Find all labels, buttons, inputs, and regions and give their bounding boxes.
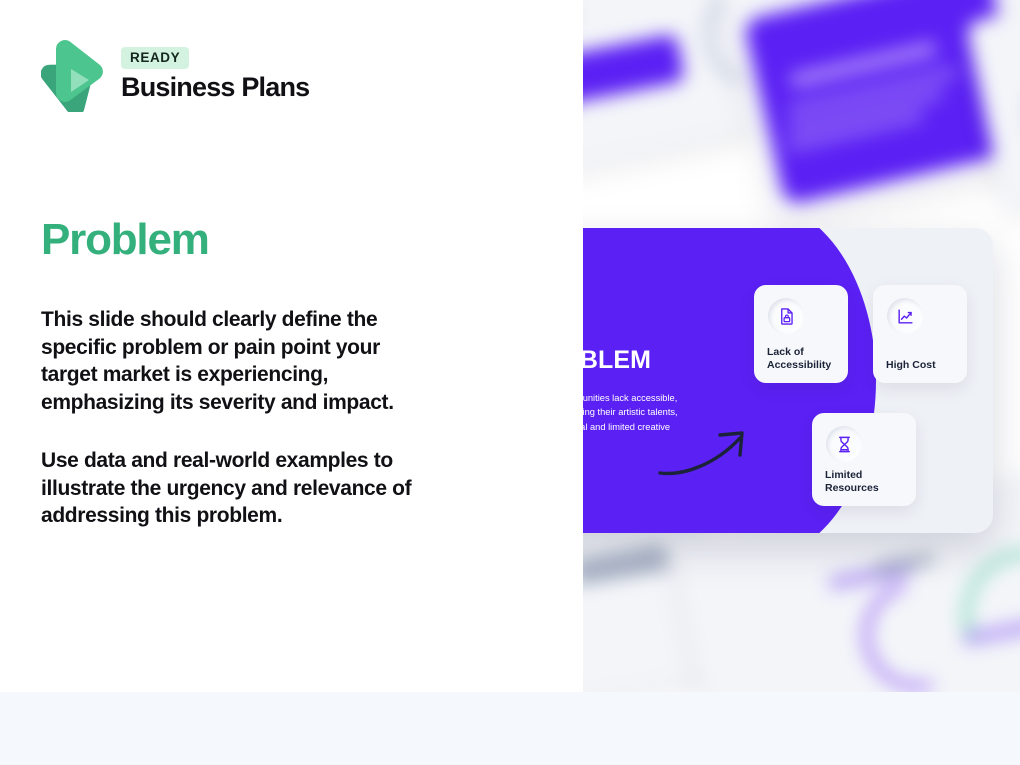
slide-accent-shape bbox=[583, 228, 758, 533]
slide-preview-panel: THE PROBLEM Many individuals and communi… bbox=[583, 0, 1020, 692]
ready-badge: READY bbox=[121, 47, 189, 69]
bottom-strip bbox=[0, 692, 1020, 765]
line-chart-icon bbox=[887, 298, 923, 334]
document-lock-icon bbox=[768, 298, 804, 334]
feature-card-limited-resources[interactable]: Limited Resources bbox=[812, 413, 916, 506]
slide-heading: THE PROBLEM bbox=[583, 346, 651, 375]
paragraph-1: This slide should clearly define the spe… bbox=[41, 306, 425, 417]
paragraph-2: Use data and real-world examples to illu… bbox=[41, 447, 425, 530]
feature-card-label: Lack of Accessibility bbox=[767, 346, 857, 372]
body-copy: This slide should clearly define the spe… bbox=[41, 306, 425, 530]
feature-card-label: High Cost bbox=[886, 359, 976, 372]
feature-card-accessibility[interactable]: Lack of Accessibility bbox=[754, 285, 848, 383]
brand-logo: READY Business Plans bbox=[41, 38, 309, 112]
hourglass-icon bbox=[826, 426, 862, 462]
curved-arrow-up-right-icon bbox=[658, 418, 758, 485]
slide-card: THE PROBLEM Many individuals and communi… bbox=[583, 228, 993, 533]
brand-name: Business Plans bbox=[121, 72, 309, 103]
play-triangle-logo-icon bbox=[41, 38, 107, 112]
feature-card-high-cost[interactable]: High Cost bbox=[873, 285, 967, 383]
feature-card-label: Limited Resources bbox=[825, 469, 915, 495]
brand-text: READY Business Plans bbox=[121, 47, 309, 103]
page-title: Problem bbox=[41, 218, 209, 262]
